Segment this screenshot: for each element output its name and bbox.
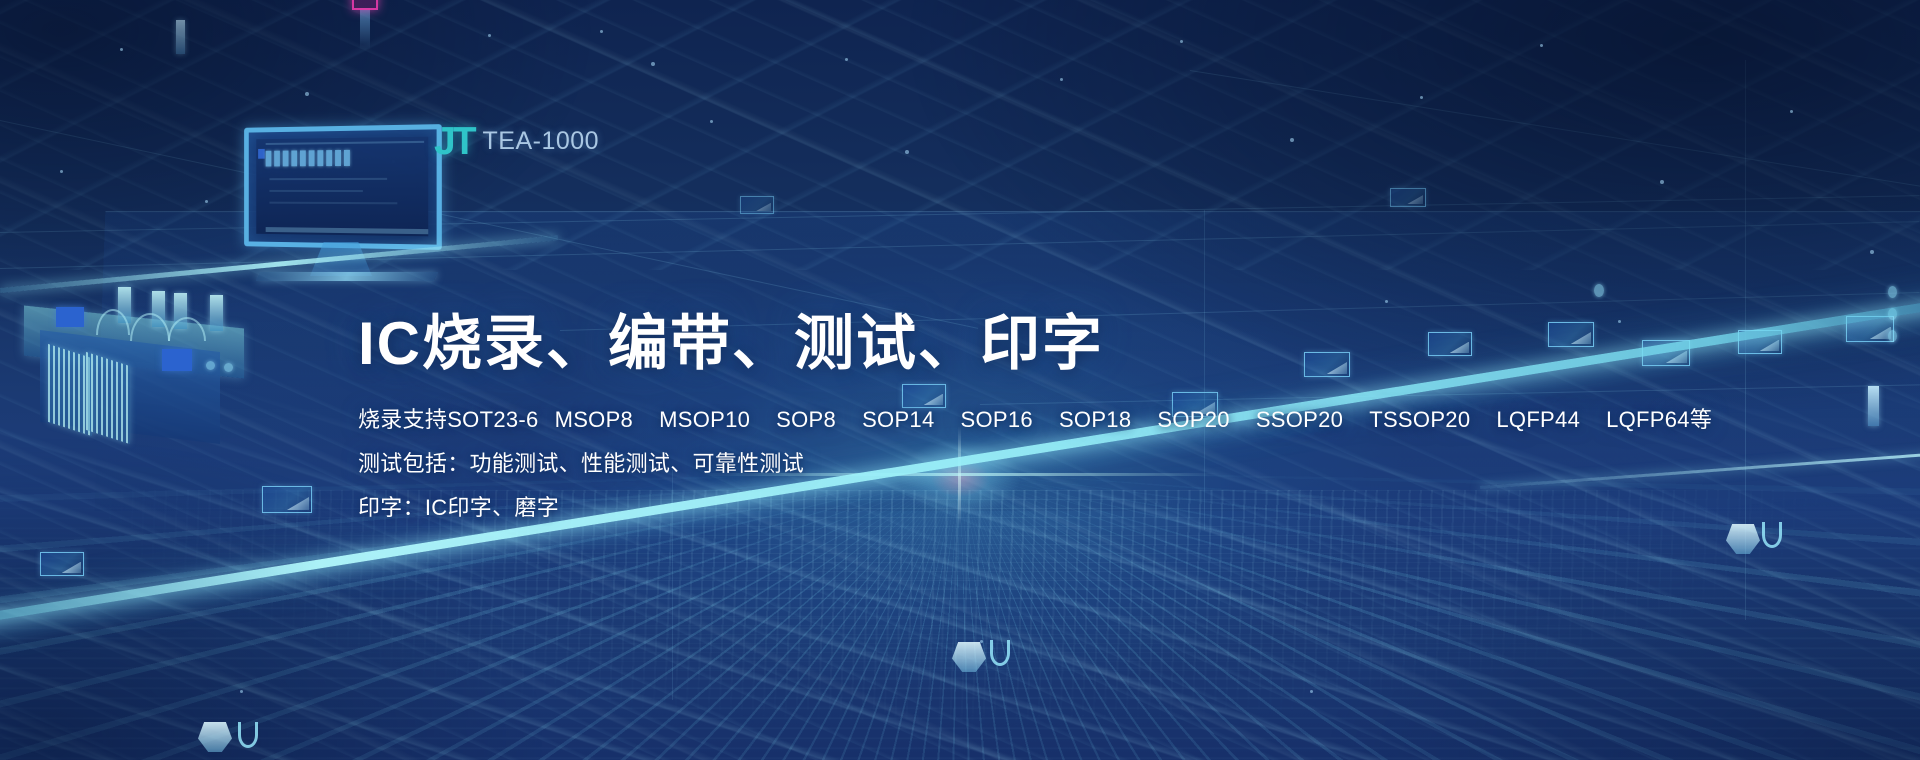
package-chip: SOP8 xyxy=(776,409,836,431)
particle-dot xyxy=(120,48,123,51)
test-scope-line: 测试包括：功能测试、性能测试、可靠性测试 xyxy=(358,453,1658,475)
particle-dot xyxy=(1660,180,1664,184)
page-title: IC烧录、编带、测试、印字 xyxy=(358,312,1658,375)
monitor-screen xyxy=(256,137,428,237)
rail-hook xyxy=(238,722,258,748)
particle-dot xyxy=(845,58,848,61)
screen-chip xyxy=(344,150,350,166)
screen-chip xyxy=(274,151,280,167)
particle-dot xyxy=(60,170,63,173)
screen-chip-row xyxy=(266,150,350,167)
wall-panel xyxy=(740,196,774,214)
particle-dot xyxy=(1385,300,1388,303)
particle-dot xyxy=(1870,250,1874,254)
wall-light-bar xyxy=(176,20,185,54)
screen-chip xyxy=(326,150,332,166)
particle-dot xyxy=(488,34,491,37)
burn-support-line: 烧录支持SOT23-6 MSOP8 MSOP10 SOP8 SOP14 SOP1… xyxy=(358,409,1658,431)
screen-chip xyxy=(283,151,289,167)
wall-panel xyxy=(1390,188,1426,207)
screen-line xyxy=(269,202,397,205)
particle-dot xyxy=(1310,690,1313,693)
screen-line xyxy=(269,178,387,180)
marking-scope-line: 印字：IC印字、磨字 xyxy=(358,497,1658,519)
industrial-machine-graphic xyxy=(10,265,250,475)
package-chip: SOP14 xyxy=(862,409,934,431)
particle-dot xyxy=(1540,44,1543,47)
wall-light xyxy=(1888,286,1897,298)
package-chip: LQFP64等 xyxy=(1606,409,1712,431)
package-chip: SOP16 xyxy=(961,409,1033,431)
wall-panel xyxy=(40,552,84,576)
banner-content: IC烧录、编带、测试、印字 烧录支持SOT23-6 MSOP8 MSOP10 S… xyxy=(358,312,1658,519)
wall-light xyxy=(1594,284,1604,297)
magenta-accent-indicator xyxy=(352,0,378,10)
package-chip: SOP20 xyxy=(1157,409,1229,431)
particle-dot xyxy=(1180,40,1183,43)
particle-dot xyxy=(651,62,655,66)
screen-highlight xyxy=(258,149,265,159)
particle-dot xyxy=(905,150,909,154)
equipment-logo: JT TEA-1000 xyxy=(434,122,599,161)
particle-dot xyxy=(240,690,243,693)
logo-mark-jt: JT xyxy=(434,122,474,161)
wall-panel xyxy=(262,486,312,513)
particle-dot xyxy=(305,92,309,96)
package-chip: MSOP10 xyxy=(659,409,750,431)
machine-module xyxy=(56,307,84,327)
package-chip: LQFP44 xyxy=(1496,409,1580,431)
monitor-frame xyxy=(244,124,442,250)
banner-stage: JT TEA-1000 xyxy=(0,0,1920,760)
screen-line xyxy=(266,141,424,145)
machine-stud xyxy=(206,361,215,370)
package-chip: MSOP8 xyxy=(555,409,634,431)
top-pole-graphic xyxy=(360,8,370,50)
machine-tube xyxy=(210,295,223,331)
particle-dot xyxy=(1290,138,1294,142)
screen-chip xyxy=(309,150,315,166)
screen-chip xyxy=(317,150,323,166)
particle-dot xyxy=(710,120,713,123)
package-chip: SOP18 xyxy=(1059,409,1131,431)
monitor-graphic xyxy=(240,126,440,248)
particle-dot xyxy=(1060,78,1063,81)
screen-line xyxy=(269,190,362,192)
burn-support-label: 烧录支持SOT23-6 xyxy=(358,409,539,431)
particle-dot xyxy=(205,200,208,203)
screen-chip xyxy=(266,151,272,167)
machine-stud xyxy=(224,363,233,372)
screen-chip xyxy=(291,150,297,166)
particle-dot xyxy=(1420,96,1423,99)
rail-hook xyxy=(990,640,1010,666)
machine-fin xyxy=(86,352,130,444)
particle-dot xyxy=(980,640,983,643)
screen-chip xyxy=(335,150,341,166)
particle-dot xyxy=(1790,110,1793,113)
package-chip: TSSOP20 xyxy=(1369,409,1470,431)
package-chip: SSOP20 xyxy=(1256,409,1343,431)
monitor-base-shelf xyxy=(256,272,439,281)
screen-line xyxy=(266,227,429,234)
machine-module xyxy=(162,349,192,371)
logo-model-text: TEA-1000 xyxy=(483,127,600,156)
particle-dot xyxy=(600,30,603,33)
wall-light-bar xyxy=(1868,386,1879,426)
rail-hook xyxy=(1762,522,1782,548)
screen-chip xyxy=(300,150,306,166)
